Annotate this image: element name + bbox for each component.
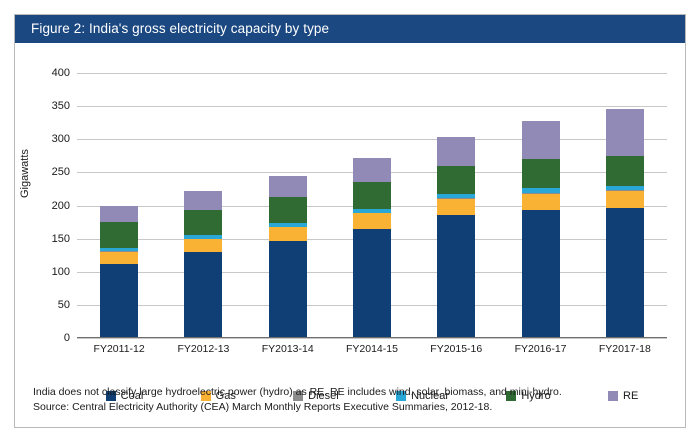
x-axis-labels: FY2011-12FY2012-13FY2013-14FY2014-15FY20… (77, 343, 667, 355)
bar-segment-coal[interactable] (437, 215, 475, 338)
bar-segment-hydro[interactable] (184, 210, 222, 236)
x-axis-tick-label: FY2013-14 (251, 343, 325, 355)
stacked-bar[interactable] (269, 176, 307, 338)
y-axis-tick-label: 100 (52, 266, 70, 278)
note-line: India does not classify large hydroelect… (33, 385, 667, 400)
x-axis-tick-label: FY2011-12 (82, 343, 156, 355)
y-axis-tick-label: 150 (52, 233, 70, 245)
bar-segment-coal[interactable] (100, 264, 138, 338)
bar-column[interactable] (504, 73, 578, 338)
bar-segment-re[interactable] (522, 121, 560, 159)
x-axis-tick-label: FY2012-13 (167, 343, 241, 355)
x-axis-tick-label: FY2015-16 (419, 343, 493, 355)
y-axis-tick-label: 250 (52, 166, 70, 178)
figure-title: Figure 2: India's gross electricity capa… (31, 21, 329, 36)
stacked-bar[interactable] (437, 137, 475, 338)
bar-segment-re[interactable] (100, 206, 138, 223)
bar-column[interactable] (419, 73, 493, 338)
y-axis-tick-label: 350 (52, 100, 70, 112)
bar-segment-re[interactable] (184, 191, 222, 210)
x-axis-tick-label: FY2016-17 (504, 343, 578, 355)
figure-container: Figure 2: India's gross electricity capa… (14, 14, 686, 428)
bar-segment-hydro[interactable] (269, 197, 307, 224)
stacked-bar[interactable] (100, 206, 138, 338)
bar-segment-gas[interactable] (353, 213, 391, 228)
x-axis-line (77, 337, 667, 338)
bar-segment-hydro[interactable] (100, 222, 138, 248)
bar-segment-coal[interactable] (353, 229, 391, 338)
bar-segment-hydro[interactable] (353, 182, 391, 209)
bar-segment-hydro[interactable] (522, 159, 560, 188)
figure-header-bar: Figure 2: India's gross electricity capa… (15, 15, 685, 43)
stacked-bar[interactable] (606, 109, 644, 338)
bar-column[interactable] (335, 73, 409, 338)
stacked-bar[interactable] (353, 158, 391, 338)
y-axis-label: Gigawatts (19, 149, 31, 198)
bar-segment-re[interactable] (353, 158, 391, 182)
stacked-bar[interactable] (184, 191, 222, 338)
bar-column[interactable] (588, 73, 662, 338)
bar-segment-gas[interactable] (437, 199, 475, 215)
bar-segment-coal[interactable] (522, 210, 560, 338)
bar-segment-gas[interactable] (606, 191, 644, 208)
bar-segment-coal[interactable] (269, 241, 307, 338)
bars-group (77, 73, 667, 338)
bar-segment-coal[interactable] (184, 252, 222, 338)
y-axis-tick-label: 50 (58, 299, 70, 311)
x-axis-tick-label: FY2017-18 (588, 343, 662, 355)
bar-column[interactable] (167, 73, 241, 338)
chart-area: Gigawatts 050100150200250300350400 FY201… (15, 43, 685, 361)
note-line: Source: Central Electricity Authority (C… (33, 400, 667, 415)
plot-area: 050100150200250300350400 (77, 73, 667, 338)
stacked-bar[interactable] (522, 121, 560, 338)
bar-segment-gas[interactable] (522, 194, 560, 211)
gridline: 0 (77, 338, 667, 339)
bar-column[interactable] (251, 73, 325, 338)
bar-segment-coal[interactable] (606, 208, 644, 339)
bar-segment-re[interactable] (606, 109, 644, 155)
bar-segment-gas[interactable] (269, 227, 307, 241)
bar-segment-hydro[interactable] (606, 156, 644, 186)
x-axis-tick-label: FY2014-15 (335, 343, 409, 355)
bar-segment-re[interactable] (269, 176, 307, 197)
y-axis-tick-label: 400 (52, 67, 70, 79)
bar-column[interactable] (82, 73, 156, 338)
figure-notes: India does not classify large hydroelect… (33, 385, 667, 415)
y-axis-tick-label: 0 (64, 332, 70, 344)
bar-segment-gas[interactable] (184, 239, 222, 252)
y-axis-tick-label: 300 (52, 133, 70, 145)
bar-segment-re[interactable] (437, 137, 475, 165)
bar-segment-hydro[interactable] (437, 166, 475, 194)
y-axis-tick-label: 200 (52, 200, 70, 212)
bar-segment-gas[interactable] (100, 252, 138, 264)
